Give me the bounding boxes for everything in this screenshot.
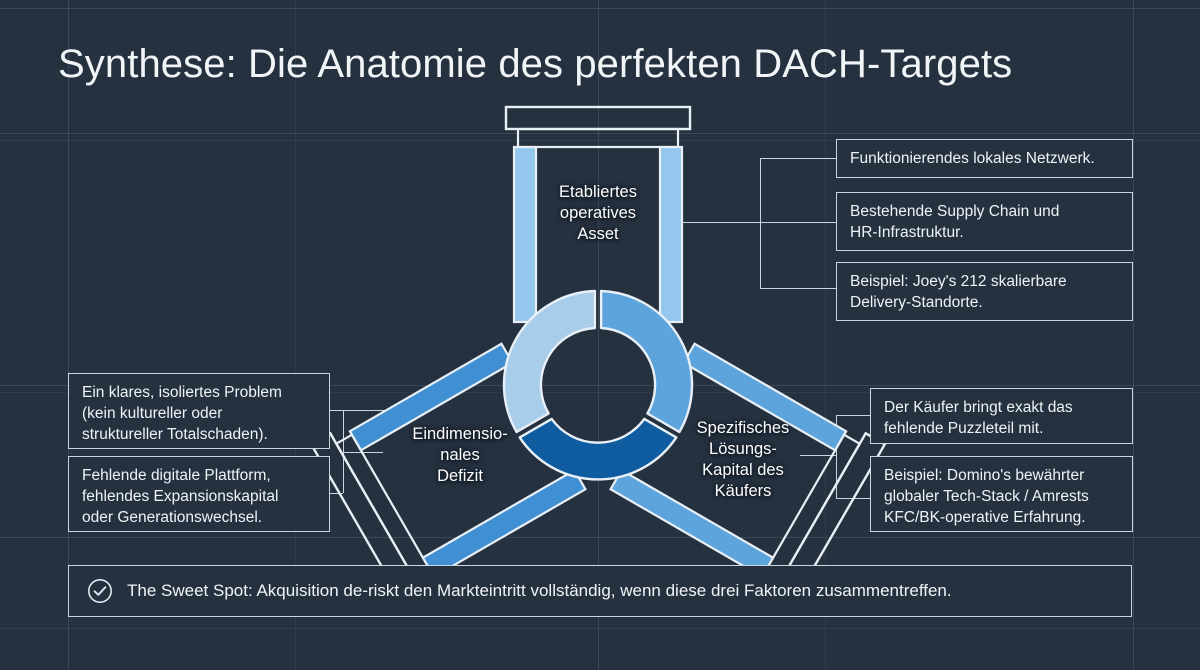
callout-line: Beispiel: Joey's 212 skalierbare <box>850 272 1119 293</box>
sweet-spot-banner[interactable]: The Sweet Spot: Akquisition de-riskt den… <box>68 565 1132 617</box>
sweet-spot-text: The Sweet Spot: Akquisition de-riskt den… <box>127 581 952 601</box>
callout-line: oder Generationswechsel. <box>82 508 316 529</box>
hub-donut <box>504 291 692 479</box>
donut-segment-deficit <box>520 419 677 479</box>
callout-line: Ein klares, isoliertes Problem <box>82 383 316 404</box>
callout-top-right-2[interactable]: Bestehende Supply Chain und HR-Infrastru… <box>836 192 1133 251</box>
callout-line: Delivery-Standorte. <box>850 293 1119 314</box>
callout-line: fehlende Puzzleteil mit. <box>884 419 1119 440</box>
callout-left-2[interactable]: Fehlende digitale Plattform, fehlendes E… <box>68 456 330 532</box>
callout-line: Beispiel: Domino's bewährter <box>884 466 1119 487</box>
arm-top <box>506 107 690 322</box>
callout-line: globaler Tech-Stack / Amrests <box>884 487 1119 508</box>
callout-line: (kein kultureller oder <box>82 404 316 425</box>
callout-line: KFC/BK-operative Erfahrung. <box>884 508 1119 529</box>
callout-top-right-3[interactable]: Beispiel: Joey's 212 skalierbare Deliver… <box>836 262 1133 321</box>
callout-line: Der Käufer bringt exakt das <box>884 398 1119 419</box>
arm-right <box>311 337 589 604</box>
callout-line: fehlendes Expansionskapital <box>82 487 316 508</box>
callout-line: struktureller Totalschaden). <box>82 425 316 446</box>
callout-bottom-right-1[interactable]: Der Käufer bringt exakt das fehlende Puz… <box>870 388 1133 444</box>
callout-line: HR-Infrastruktur. <box>850 223 1119 244</box>
callout-line: Funktionierendes lokales Netzwerk. <box>850 149 1119 170</box>
callout-bottom-right-2[interactable]: Beispiel: Domino's bewährter globaler Te… <box>870 456 1133 532</box>
callout-line: Bestehende Supply Chain und <box>850 202 1119 223</box>
slide-canvas: Synthese: Die Anatomie des perfekten DAC… <box>0 0 1200 670</box>
callout-line: Fehlende digitale Plattform, <box>82 466 316 487</box>
check-circle-icon <box>87 578 113 604</box>
callout-left-1[interactable]: Ein klares, isoliertes Problem (kein kul… <box>68 373 330 449</box>
arm-left <box>607 337 885 604</box>
callout-top-right-1[interactable]: Funktionierendes lokales Netzwerk. <box>836 139 1133 178</box>
